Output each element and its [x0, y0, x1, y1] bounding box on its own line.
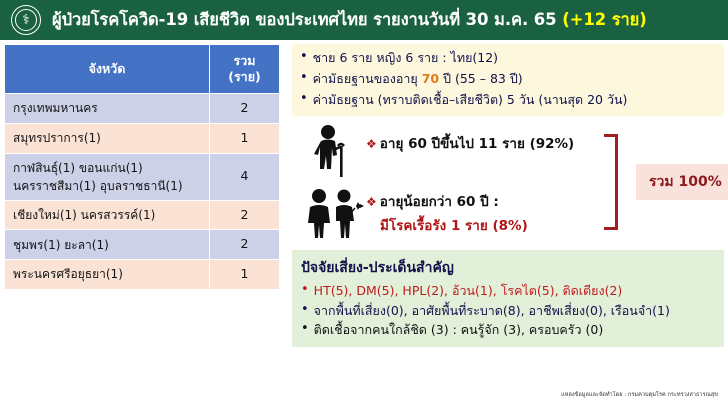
age-breakdown-block: ❖อายุ 60 ปีขึ้นไป 11 ราย (92%) ❖อายุน้อย…: [292, 120, 724, 248]
cell-province: กาฬสินธุ์(1) ขอนแก่น(1) นครราชสีมา(1) อุ…: [5, 153, 210, 200]
median-age-value: 70: [422, 71, 439, 86]
province-table-wrapper: จังหวัด รวม (ราย) กรุงเทพมหานคร 2 สมุ: [4, 44, 279, 290]
age-60-plus-text: อายุ 60 ปีขึ้นไป 11 ราย (92%): [380, 136, 574, 152]
infographic-page: ⚕ ผู้ป่วยโรคโควิด-19 เสียชีวิต ของประเทศ…: [0, 0, 728, 410]
table-row: ชุมพร(1) ยะลา(1) 2: [5, 230, 280, 260]
cell-province: ชุมพร(1) ยะลา(1): [5, 230, 210, 260]
age-under-60-line: ❖อายุน้อยกว่า 60 ปี :: [366, 190, 499, 212]
cell-province: สมุทรปราการ(1): [5, 123, 210, 153]
province-line: นครราชสีมา(1) อุบลราชธานี(1): [13, 177, 201, 195]
cell-province: กรุงเทพมหานคร: [5, 94, 210, 124]
summary-item-median-age: • ค่ามัธยฐานของอายุ 70 ปี (55 – 83 ปี): [300, 71, 716, 88]
right-column: • ชาย 6 ราย หญิง 6 ราย : ไทย(12) • ค่ามั…: [292, 44, 724, 347]
grouping-bracket: [604, 134, 618, 230]
risk-factors-title: ปัจจัยเสี่ยง-ประเด็นสำคัญ: [301, 257, 715, 279]
province-line: กาฬสินธุ์(1) ขอนแก่น(1): [13, 159, 201, 177]
page-title-main: ผู้ป่วยโรคโควิด-19 เสียชีวิต ของประเทศไท…: [52, 10, 557, 29]
column-header-total: รวม (ราย): [210, 45, 280, 94]
summary-text-median-days: ค่ามัธยฐาน (ทราบติดเชื้อ–เสียชีวิต) 5 วั…: [313, 92, 628, 109]
province-line: พระนครศรีอยุธยา(1): [13, 265, 201, 283]
risk-item-close-contact: • ติดเชื้อจากคนใกล้ชิด (3) : คนรู้จัก (3…: [301, 322, 715, 339]
bullet-icon: •: [300, 71, 308, 86]
page-title: ผู้ป่วยโรคโควิด-19 เสียชีวิต ของประเทศไท…: [52, 7, 647, 33]
column-header-province: จังหวัด: [5, 45, 210, 94]
cell-total: 1: [210, 123, 280, 153]
elderly-person-with-cane-icon: [308, 124, 356, 180]
page-header: ⚕ ผู้ป่วยโรคโควิด-19 เสียชีวิต ของประเทศ…: [0, 0, 728, 40]
caduceus-icon: ⚕: [22, 13, 30, 27]
risk-text-close-contact: ติดเชื้อจากคนใกล้ชิด (3) : คนรู้จัก (3),…: [314, 322, 604, 339]
median-age-prefix: ค่ามัธยฐานของอายุ: [313, 71, 422, 86]
diamond-bullet-icon: ❖: [366, 137, 377, 151]
province-table-body: กรุงเทพมหานคร 2 สมุทรปราการ(1) 1 กาฬสินธ…: [5, 94, 280, 290]
cell-province: พระนครศรีอยุธยา(1): [5, 260, 210, 290]
summary-item-sex: • ชาย 6 ราย หญิง 6 ราย : ไทย(12): [300, 50, 716, 67]
cell-province: เชียงใหม่(1) นครสวรรค์(1): [5, 200, 210, 230]
summary-text-median-age: ค่ามัธยฐานของอายุ 70 ปี (55 – 83 ปี): [313, 71, 523, 88]
province-line: เชียงใหม่(1) นครสวรรค์(1): [13, 206, 201, 224]
risk-item-exposure-area: • จากพื้นที่เสี่ยง(0), อาศัยพื้นที่ระบาด…: [301, 303, 715, 320]
moph-emblem-icon: ⚕: [11, 5, 41, 35]
age-under-60-text: อายุน้อยกว่า 60 ปี :: [380, 194, 499, 210]
cell-total: 4: [210, 153, 280, 200]
summary-box: • ชาย 6 ราย หญิง 6 ราย : ไทย(12) • ค่ามั…: [292, 44, 724, 116]
chronic-disease-line: มีโรคเรื้อรัง 1 ราย (8%): [380, 214, 528, 236]
cell-total: 2: [210, 200, 280, 230]
province-table-head: จังหวัด รวม (ราย): [5, 45, 280, 94]
risk-text-exposure-area: จากพื้นที่เสี่ยง(0), อาศัยพื้นที่ระบาด(8…: [314, 303, 670, 320]
province-line: สมุทรปราการ(1): [13, 129, 201, 147]
table-row: สมุทรปราการ(1) 1: [5, 123, 280, 153]
table-row: กาฬสินธุ์(1) ขอนแก่น(1) นครราชสีมา(1) อุ…: [5, 153, 280, 200]
province-table: จังหวัด รวม (ราย) กรุงเทพมหานคร 2 สมุ: [4, 44, 280, 290]
page-title-highlight: (+12 ราย): [562, 10, 647, 29]
table-row: พระนครศรีอยุธยา(1) 1: [5, 260, 280, 290]
source-footer: แหล่งข้อมูลและจัดทำโดย : กรมควบคุมโรค กร…: [0, 391, 728, 399]
risk-text-comorbidity: HT(5), DM(5), HPL(2), อ้วน(1), โรคไต(5),…: [314, 283, 623, 300]
summary-item-median-days: • ค่ามัธยฐาน (ทราบติดเชื้อ–เสียชีวิต) 5 …: [300, 92, 716, 109]
moph-logo: ⚕: [0, 0, 52, 40]
two-people-icon: [304, 188, 364, 240]
cell-total: 2: [210, 94, 280, 124]
bullet-icon: •: [301, 322, 309, 336]
table-header-row: จังหวัด รวม (ราย): [5, 45, 280, 94]
table-row: กรุงเทพมหานคร 2: [5, 94, 280, 124]
table-row: เชียงใหม่(1) นครสวรรค์(1) 2: [5, 200, 280, 230]
province-line: ชุมพร(1) ยะลา(1): [13, 236, 201, 254]
median-age-suffix: ปี (55 – 83 ปี): [439, 71, 523, 86]
cell-total: 2: [210, 230, 280, 260]
column-header-total-label: รวม: [212, 53, 277, 69]
cell-total: 1: [210, 260, 280, 290]
total-percent-badge: รวม 100%: [636, 164, 728, 200]
bullet-icon: •: [300, 92, 308, 107]
moph-emblem-inner-ring: ⚕: [15, 9, 37, 31]
summary-text-sex: ชาย 6 ราย หญิง 6 ราย : ไทย(12): [313, 50, 498, 67]
age-60-plus-line: ❖อายุ 60 ปีขึ้นไป 11 ราย (92%): [366, 132, 574, 154]
bullet-icon: •: [300, 50, 308, 65]
column-header-total-unit: (ราย): [212, 69, 277, 85]
bullet-icon: •: [301, 303, 309, 317]
bullet-icon: •: [301, 283, 309, 297]
province-line: กรุงเทพมหานคร: [13, 99, 201, 117]
risk-item-comorbidity: • HT(5), DM(5), HPL(2), อ้วน(1), โรคไต(5…: [301, 283, 715, 300]
risk-factors-box: ปัจจัยเสี่ยง-ประเด็นสำคัญ • HT(5), DM(5)…: [292, 250, 724, 348]
diamond-bullet-icon: ❖: [366, 195, 377, 209]
